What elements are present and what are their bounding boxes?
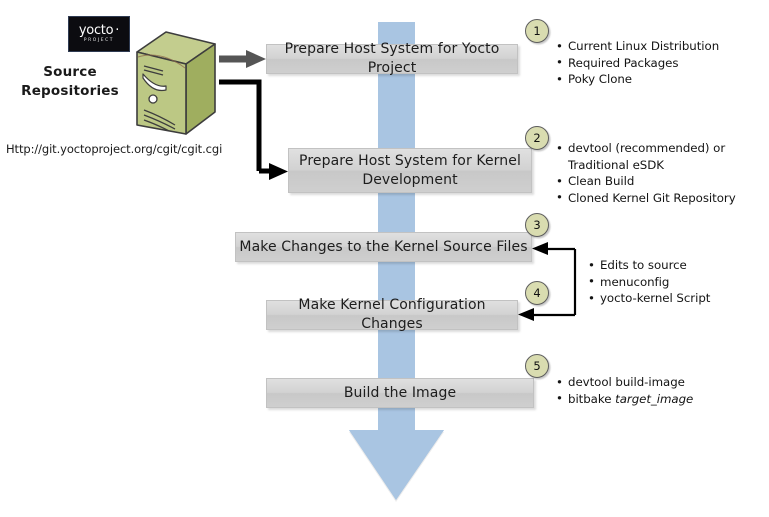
- process-box-label: Prepare Host System for Kernel Developme…: [299, 152, 521, 190]
- bullet-item: Cloned Kernel Git Repository: [566, 190, 765, 207]
- bullet-item: Current Linux Distribution: [566, 38, 765, 55]
- bullet-item-bitbake: bitbake target_image: [566, 391, 765, 408]
- bullet-item: devtool (recommended) or Traditional eSD…: [566, 140, 765, 173]
- process-box-make-config-changes[interactable]: Make Kernel Configuration Changes: [266, 300, 518, 330]
- bullet-item: devtool build-image: [566, 374, 765, 391]
- step-number-text: 4: [533, 286, 540, 300]
- step-number-text: 2: [533, 131, 540, 145]
- step-number-badge-4: 4: [525, 281, 549, 305]
- bitbake-command: bitbake: [568, 392, 615, 406]
- process-box-prepare-host-kernel[interactable]: Prepare Host System for Kernel Developme…: [288, 148, 532, 193]
- bullet-item: yocto-kernel Script: [598, 290, 760, 307]
- process-box-label-line2: Development: [362, 172, 457, 188]
- step-2-bullet-list: devtool (recommended) or Traditional eSD…: [553, 140, 765, 206]
- step-number-text: 5: [533, 359, 540, 373]
- step-number-badge-2: 2: [525, 126, 549, 150]
- step-1-bullet-list: Current Linux Distribution Required Pack…: [553, 38, 765, 88]
- bullet-item: menuconfig: [598, 274, 760, 291]
- process-box-label: Make Kernel Configuration Changes: [267, 296, 517, 334]
- bitbake-target-param: target_image: [615, 392, 693, 406]
- bullet-item: Clean Build: [566, 173, 765, 190]
- process-box-label: Make Changes to the Kernel Source Files: [239, 238, 527, 257]
- process-box-make-source-changes[interactable]: Make Changes to the Kernel Source Files: [235, 232, 532, 262]
- process-box-label: Prepare Host System for Yocto Project: [267, 40, 517, 78]
- step-5-bullet-list: devtool build-image bitbake target_image: [553, 374, 765, 407]
- step-3-4-bullet-list: Edits to source menuconfig yocto-kernel …: [585, 257, 760, 307]
- process-box-build-image[interactable]: Build the Image: [266, 378, 534, 408]
- step-number-badge-5: 5: [525, 354, 549, 378]
- step-number-badge-3: 3: [525, 213, 549, 237]
- step-number-text: 3: [533, 218, 540, 232]
- workflow-diagram: yocto· PROJECT Source Repositories Http:…: [0, 0, 769, 517]
- process-box-prepare-host-yocto[interactable]: Prepare Host System for Yocto Project: [266, 44, 518, 74]
- bullet-item: Poky Clone: [566, 71, 765, 88]
- step-number-badge-1: 1: [525, 19, 549, 43]
- process-box-label-line1: Prepare Host System for Kernel: [299, 153, 521, 169]
- bullet-item: Required Packages: [566, 55, 765, 72]
- bullet-item: Edits to source: [598, 257, 760, 274]
- process-box-label: Build the Image: [344, 384, 456, 403]
- step-number-text: 1: [533, 24, 540, 38]
